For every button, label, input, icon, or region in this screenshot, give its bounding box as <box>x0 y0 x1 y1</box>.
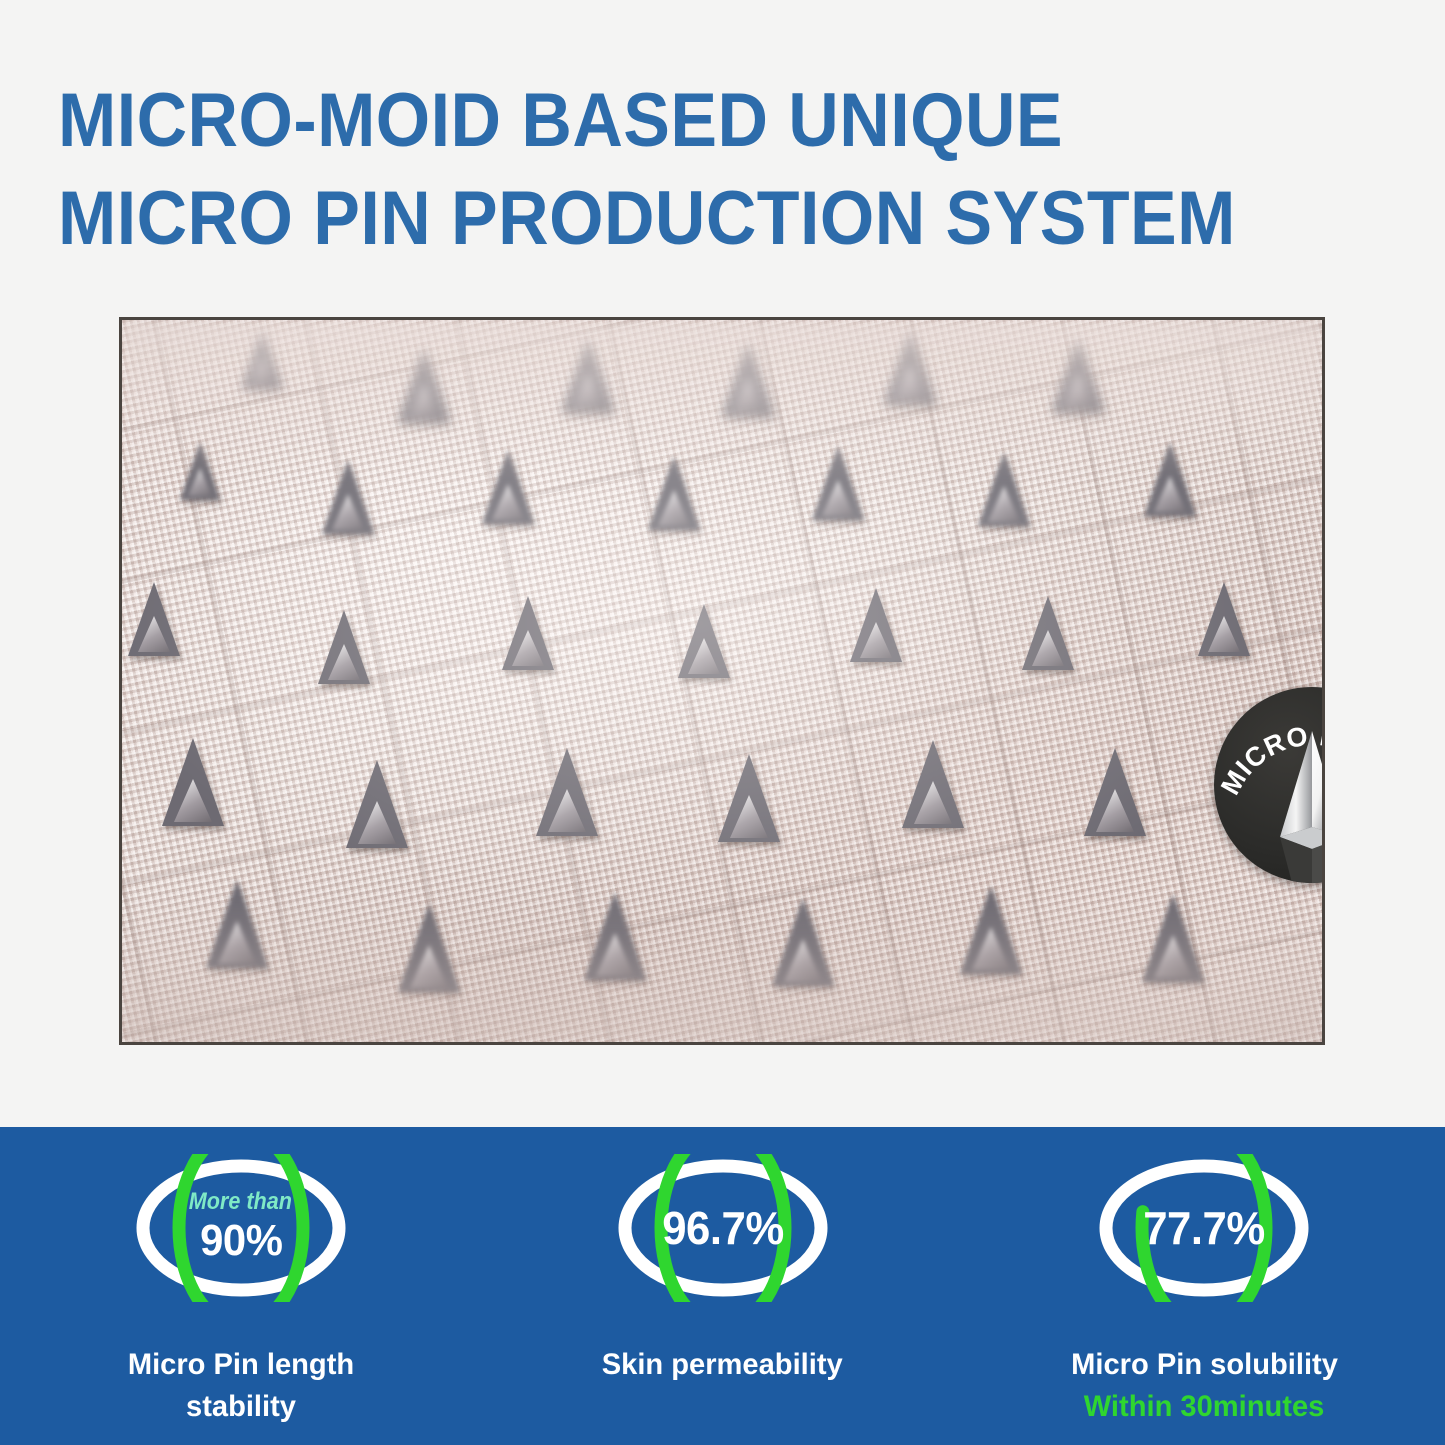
stat-micro-pin-length-stability: More than 90% Micro Pin length stability <box>0 1127 482 1445</box>
stats-panel: More than 90% Micro Pin length stability… <box>0 1127 1445 1445</box>
micro-pin <box>678 604 730 678</box>
micro-pin <box>1144 442 1196 516</box>
stat-label: Micro Pin length stability <box>81 1344 401 1428</box>
micro-pin <box>718 754 780 842</box>
micro-pin <box>502 596 554 670</box>
micro-pin <box>1084 748 1146 836</box>
micro-pin <box>536 748 598 836</box>
micro-pin <box>1022 596 1074 670</box>
micro-pin <box>772 898 834 986</box>
progress-ring-96-7 <box>608 1154 838 1302</box>
badge-graphic: MICRO PIN 200EA <box>1214 687 1325 883</box>
progress-ring-90 <box>126 1154 356 1302</box>
progress-ring-wrap: 77.7% <box>1089 1154 1319 1302</box>
micro-pin <box>322 460 374 534</box>
micro-pin <box>128 582 180 656</box>
micro-pin <box>648 456 700 530</box>
stat-sub-label: Within 30minutes <box>1084 1386 1325 1428</box>
micro-pin <box>584 892 646 980</box>
micro-pin <box>346 760 408 848</box>
stats-row: More than 90% Micro Pin length stability… <box>0 1127 1445 1445</box>
micro-pin <box>1052 338 1104 412</box>
micro-pin <box>1198 582 1250 656</box>
microscope-photo: MICRO PIN 200EA <box>119 317 1325 1045</box>
micro-pin <box>162 738 224 826</box>
micro-pin <box>318 610 370 684</box>
micro-pin <box>884 330 936 404</box>
progress-ring-wrap: More than 90% <box>126 1154 356 1302</box>
stat-skin-permeability: 96.7% Skin permeability <box>482 1127 964 1445</box>
stat-label: Skin permeability <box>602 1344 843 1386</box>
micro-pin <box>482 450 534 524</box>
micro-pin <box>180 442 220 500</box>
micro-pin <box>960 886 1022 974</box>
micro-pin <box>398 348 450 422</box>
micro-pin <box>562 338 614 412</box>
micro-pin <box>902 740 964 828</box>
micro-pin <box>978 452 1030 526</box>
micro-pin <box>242 330 282 388</box>
micro-pin <box>206 880 268 968</box>
stat-micro-pin-solubility: 77.7% Micro Pin solubility Within 30minu… <box>963 1127 1445 1445</box>
progress-ring-wrap: 96.7% <box>608 1154 838 1302</box>
page-title-line-2: MICRO PIN PRODUCTION SYSTEM <box>58 170 1282 268</box>
microscope-photo-canvas <box>122 320 1322 1042</box>
stat-label: Micro Pin solubility <box>1071 1344 1338 1386</box>
micro-pin-200ea-badge: MICRO PIN 200EA <box>1214 687 1325 883</box>
micro-pin <box>1142 894 1204 982</box>
progress-ring-77-7 <box>1089 1154 1319 1302</box>
page-title-line-1: MICRO-MOID BASED UNIQUE <box>58 72 1282 170</box>
micro-pin <box>850 588 902 662</box>
micro-pin <box>398 904 460 992</box>
micro-pin <box>722 342 774 416</box>
page-title: MICRO-MOID BASED UNIQUE MICRO PIN PRODUC… <box>58 72 1282 268</box>
micro-pin <box>812 446 864 520</box>
